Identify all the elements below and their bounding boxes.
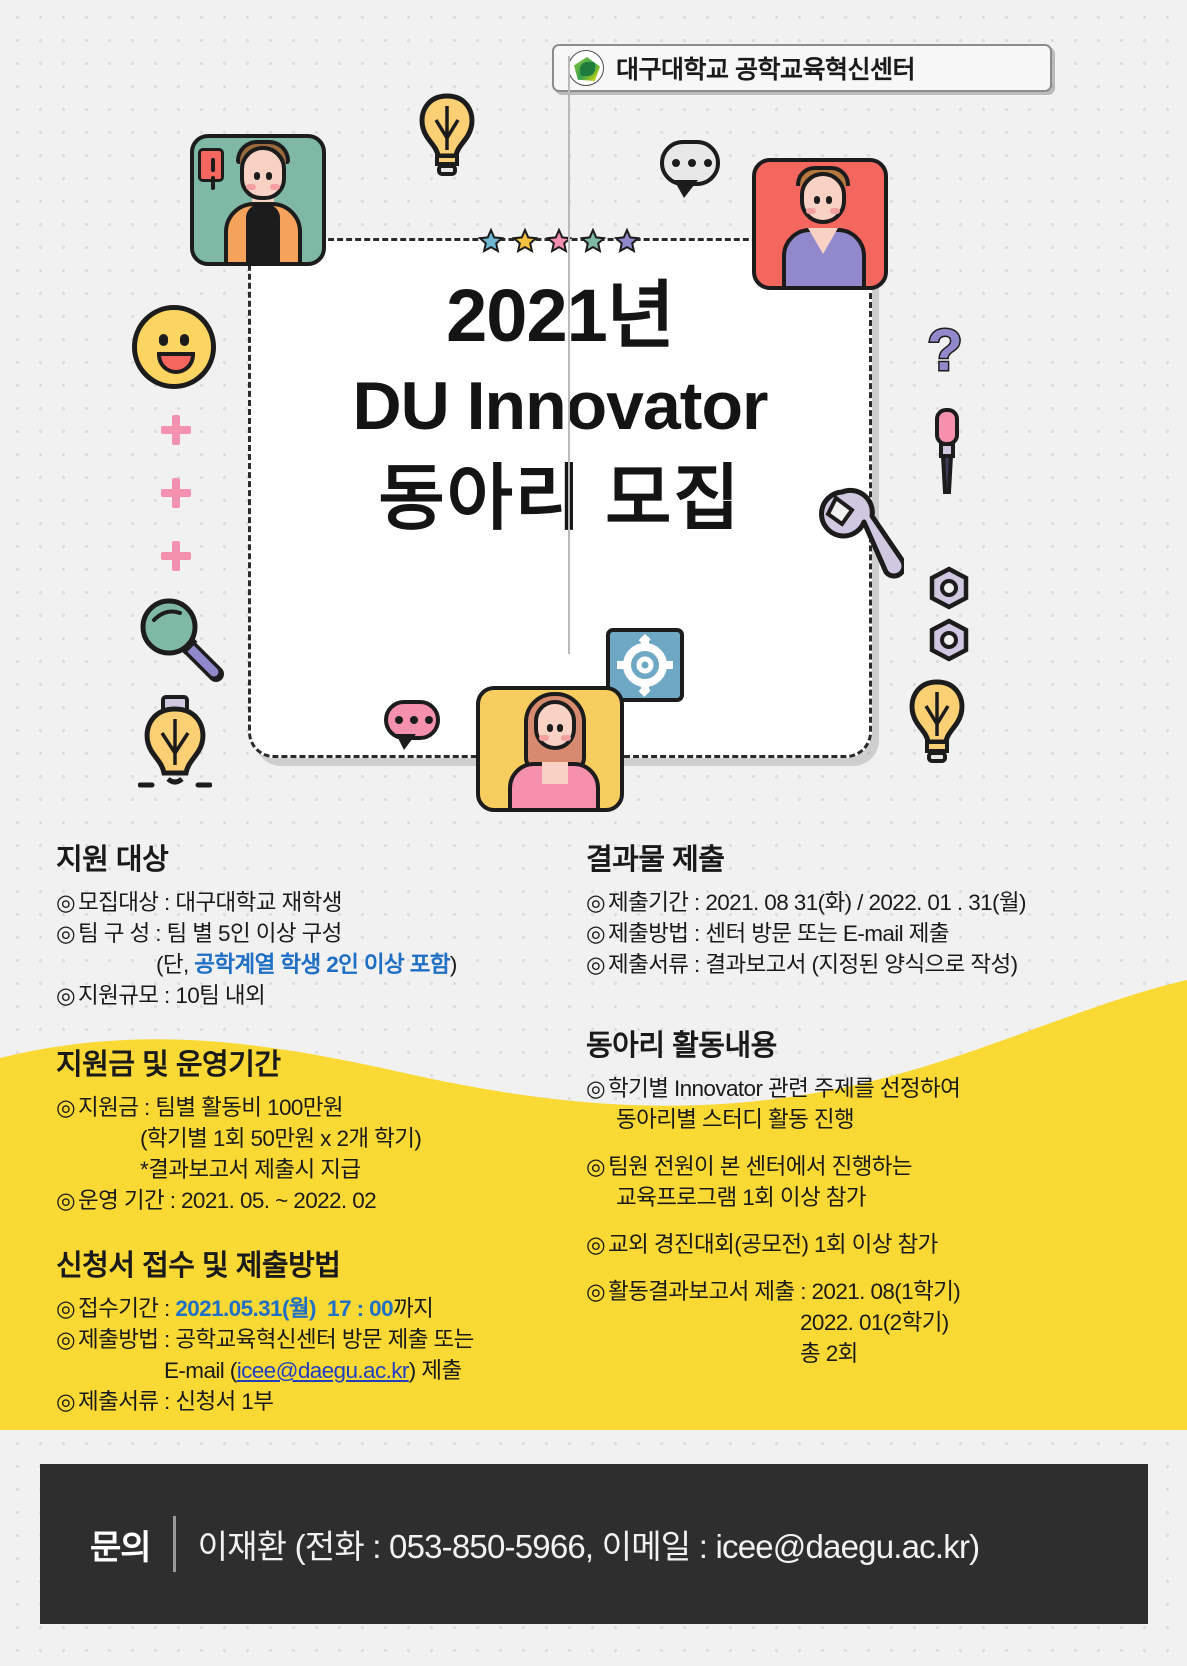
list-item: 교육프로그램 1회 이상 참가 bbox=[578, 1182, 1138, 1213]
list-item: *결과보고서 제출시 지급 bbox=[56, 1154, 562, 1185]
bullet-icon: ◎ bbox=[56, 1092, 78, 1123]
footer-divider bbox=[173, 1516, 176, 1572]
list-item: E-mail (icee@daegu.ac.kr) 제출 bbox=[56, 1355, 562, 1386]
svg-text:?: ? bbox=[927, 318, 962, 383]
right-column: 결과물 제출 ◎제출기간 : 2021. 08 31(화) / 2022. 01… bbox=[578, 836, 1138, 1369]
list-item: (단, 공학계열 학생 2인 이상 포함) bbox=[56, 949, 562, 980]
section-title-submission: 결과물 제출 bbox=[586, 836, 1138, 878]
avatar-student-right bbox=[752, 158, 888, 290]
bullet-icon: ◎ bbox=[586, 887, 608, 918]
email-link[interactable]: icee@daegu.ac.kr bbox=[237, 1358, 409, 1383]
list-item: ◎제출방법 : 공학교육혁신센터 방문 제출 또는 bbox=[56, 1324, 562, 1355]
list-item: ◎제출서류 : 결과보고서 (지정된 양식으로 작성) bbox=[578, 949, 1138, 980]
contact-footer: 문의 이재환 (전화 : 053-850-5966, 이메일 : icee@da… bbox=[40, 1464, 1148, 1624]
star-icon bbox=[512, 228, 538, 254]
star-icon bbox=[580, 228, 606, 254]
bullet-icon: ◎ bbox=[56, 1324, 78, 1355]
headline-subject: 동아리 모집 bbox=[248, 452, 872, 546]
bullet-icon: ◎ bbox=[56, 1185, 78, 1216]
speech-bubble-icon bbox=[660, 140, 720, 186]
bullet-icon: ◎ bbox=[56, 887, 78, 918]
headline-program: DU Innovator bbox=[248, 360, 872, 452]
notification-badge-icon bbox=[198, 148, 224, 182]
list-item: ◎교외 경진대회(공모전) 1회 이상 참가 bbox=[578, 1229, 1138, 1260]
magnifying-glass-icon bbox=[136, 594, 224, 682]
list-item: ◎팀원 전원이 본 센터에서 진행하는 bbox=[578, 1151, 1138, 1182]
screwdriver-icon bbox=[930, 408, 964, 500]
list-item: (학기별 1회 50만원 x 2개 학기) bbox=[56, 1123, 562, 1154]
bullet-icon: ◎ bbox=[586, 949, 608, 980]
activities-list: ◎학기별 Innovator 관련 주제를 선정하여 동아리별 스터디 활동 진… bbox=[578, 1073, 1138, 1369]
list-item: ◎지원규모 : 10팀 내외 bbox=[56, 980, 562, 1011]
section-title-application: 신청서 접수 및 제출방법 bbox=[56, 1242, 562, 1284]
lightbulb-icon bbox=[416, 92, 478, 188]
contact-details: 이재환 (전화 : 053-850-5966, 이메일 : icee@daegu… bbox=[198, 1520, 980, 1568]
list-item: ◎학기별 Innovator 관련 주제를 선정하여 bbox=[578, 1073, 1138, 1104]
bullet-icon: ◎ bbox=[586, 1229, 608, 1260]
lightbulb-icon bbox=[138, 693, 212, 797]
list-item: ◎운영 기간 : 2021. 05. ~ 2022. 02 bbox=[56, 1185, 562, 1216]
submission-list: ◎제출기간 : 2021. 08 31(화) / 2022. 01 . 31(월… bbox=[578, 887, 1138, 980]
section-title-funding: 지원금 및 운영기간 bbox=[56, 1041, 562, 1083]
section-title-eligibility: 지원 대상 bbox=[56, 836, 562, 878]
list-item: ◎제출방법 : 센터 방문 또는 E-mail 제출 bbox=[578, 918, 1138, 949]
question-mark-icon: ? bbox=[922, 318, 968, 392]
plus-sign-icon bbox=[161, 478, 191, 508]
list-item: ◎지원금 : 팀별 활동비 100만원 bbox=[56, 1092, 562, 1123]
hex-nut-icon bbox=[926, 566, 972, 610]
list-item: ◎접수기간 : 2021.05.31(월) 17 : 00까지 bbox=[56, 1293, 562, 1324]
header-title: 대구대학교 공학교육혁신센터 bbox=[616, 50, 915, 86]
bullet-icon: ◎ bbox=[586, 1151, 608, 1182]
application-list: ◎접수기간 : 2021.05.31(월) 17 : 00까지 ◎제출방법 : … bbox=[56, 1293, 562, 1417]
list-item: 동아리별 스터디 활동 진행 bbox=[578, 1104, 1138, 1135]
star-rating-row bbox=[478, 228, 640, 254]
daegu-university-emblem-icon bbox=[568, 50, 604, 86]
list-item: 2022. 01(2학기) bbox=[578, 1307, 1138, 1338]
speech-bubble-icon bbox=[384, 700, 440, 740]
section-title-activities: 동아리 활동내용 bbox=[586, 1022, 1138, 1064]
left-column: 지원 대상 ◎모집대상 : 대구대학교 재학생 ◎팀 구 성 : 팀 별 5인 … bbox=[56, 836, 562, 1417]
list-item: ◎제출서류 : 신청서 1부 bbox=[56, 1386, 562, 1417]
header-logo-bar: 대구대학교 공학교육혁신센터 bbox=[552, 44, 1052, 92]
list-item: ◎모집대상 : 대구대학교 재학생 bbox=[56, 887, 562, 918]
lightbulb-icon bbox=[904, 676, 970, 772]
list-item: ◎활동결과보고서 제출 : 2021. 08(1학기) bbox=[578, 1276, 1138, 1307]
funding-list: ◎지원금 : 팀별 활동비 100만원 (학기별 1회 50만원 x 2개 학기… bbox=[56, 1092, 562, 1216]
poster-canvas: 대구대학교 공학교육혁신센터 bbox=[0, 0, 1187, 1666]
contact-label: 문의 bbox=[90, 1520, 151, 1569]
bullet-icon: ◎ bbox=[56, 980, 78, 1011]
column-divider bbox=[568, 56, 570, 654]
eligibility-list: ◎모집대상 : 대구대학교 재학생 ◎팀 구 성 : 팀 별 5인 이상 구성 … bbox=[56, 887, 562, 1011]
content-area: 지원 대상 ◎모집대상 : 대구대학교 재학생 ◎팀 구 성 : 팀 별 5인 … bbox=[0, 836, 1187, 1436]
bullet-icon: ◎ bbox=[56, 918, 78, 949]
star-icon bbox=[478, 228, 504, 254]
bullet-icon: ◎ bbox=[56, 1386, 78, 1417]
avatar-student-left bbox=[190, 134, 326, 266]
bullet-icon: ◎ bbox=[56, 1293, 78, 1324]
poster-headline: 2021년 DU Innovator 동아리 모집 bbox=[248, 272, 872, 546]
plus-sign-icon bbox=[161, 541, 191, 571]
star-icon bbox=[614, 228, 640, 254]
plus-sign-icon bbox=[161, 415, 191, 445]
bullet-icon: ◎ bbox=[586, 918, 608, 949]
bullet-icon: ◎ bbox=[586, 1073, 608, 1104]
list-item: ◎팀 구 성 : 팀 별 5인 이상 구성 bbox=[56, 918, 562, 949]
bullet-icon: ◎ bbox=[586, 1276, 608, 1307]
hex-nut-icon bbox=[926, 618, 972, 662]
avatar-student-bottom bbox=[476, 686, 624, 812]
list-item: 총 2회 bbox=[578, 1338, 1138, 1369]
list-item: ◎제출기간 : 2021. 08 31(화) / 2022. 01 . 31(월… bbox=[578, 887, 1138, 918]
smiley-face-icon bbox=[132, 305, 216, 389]
